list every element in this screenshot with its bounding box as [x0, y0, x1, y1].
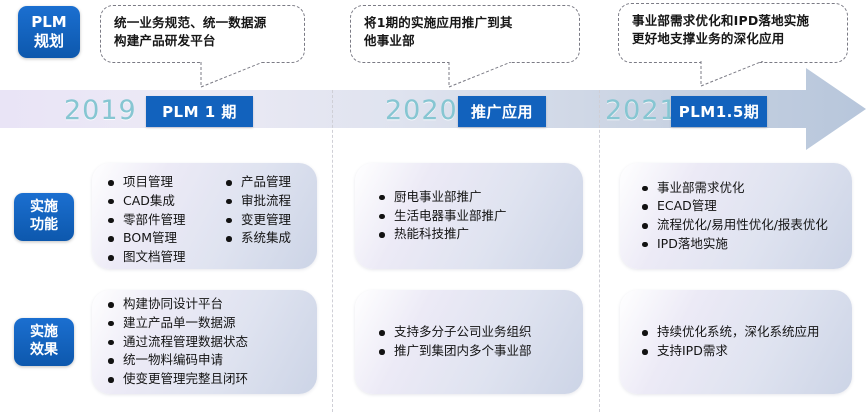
list-item: 生活电器事业部推广: [377, 207, 507, 226]
list-item: BOM管理: [106, 229, 214, 248]
row-label-implementation-functions: 实施 功能: [14, 193, 74, 241]
card-results-2019: 构建协同设计平台 建立产品单一数据源 通过流程管理数据状态 统一物料编码申请 使…: [92, 290, 317, 394]
list-item: 热能科技推广: [377, 225, 507, 244]
card-functions-2020: 厨电事业部推广 生活电器事业部推广 热能科技推广: [355, 163, 583, 269]
results-2019-list: 构建协同设计平台 建立产品单一数据源 通过流程管理数据状态 统一物料编码申请 使…: [106, 295, 248, 389]
list-item: 流程优化/易用性优化/报表优化: [640, 216, 828, 235]
list-item: 构建协同设计平台: [106, 295, 248, 314]
list-item: 持续优化系统，深化系统应用: [640, 323, 820, 342]
functions-2020-list: 厨电事业部推广 生活电器事业部推广 热能科技推广: [377, 188, 507, 244]
list-item: IPD落地实施: [640, 235, 828, 254]
row-label-effect-line2: 效果: [30, 342, 58, 360]
callout-2020: 将1期的实施应用推广到其 他事业部: [350, 5, 580, 63]
list-item: 可视化: [106, 267, 214, 269]
callout-2020-line1: 将1期的实施应用推广到其: [364, 14, 568, 32]
callout-2020-tail: [448, 61, 518, 89]
row-label-implementation-results: 实施 效果: [14, 318, 74, 366]
callout-2021-line1: 事业部需求优化和IPD落地实施: [632, 12, 836, 30]
list-item: 厨电事业部推广: [377, 188, 507, 207]
list-item: 通过流程管理数据状态: [106, 333, 248, 352]
list-item: 项目管理: [106, 173, 214, 192]
column-divider-1: [332, 90, 333, 412]
card-results-2020: 支持多分子公司业务组织 推广到集团内多个事业部: [355, 290, 583, 394]
list-item: ECAD管理: [640, 197, 828, 216]
list-item: 系统集成: [224, 229, 291, 248]
phase-chip-2021[interactable]: PLM1.5期: [671, 96, 767, 127]
card-functions-2019: 项目管理 CAD集成 零部件管理 BOM管理 图文档管理 可视化 产品管理 审批…: [92, 163, 317, 269]
list-item: 建立产品单一数据源: [106, 314, 248, 333]
list-item: 审批流程: [224, 192, 291, 211]
list-item: 支持IPD需求: [640, 342, 820, 361]
callout-2021: 事业部需求优化和IPD落地实施 更好地支撑业务的深化应用: [618, 3, 848, 63]
list-item: 推广到集团内多个事业部: [377, 342, 532, 361]
list-item: 使变更管理完整且闭环: [106, 370, 248, 389]
plm-planning-badge: PLM 规划: [18, 6, 80, 58]
card-results-2021: 持续优化系统，深化系统应用 支持IPD需求: [620, 290, 852, 394]
list-item: 变更管理: [224, 211, 291, 230]
callout-2019-line2: 构建产品研发平台: [114, 32, 293, 50]
functions-2021-list: 事业部需求优化 ECAD管理 流程优化/易用性优化/报表优化 IPD落地实施: [640, 179, 828, 254]
list-item: 事业部需求优化: [640, 179, 828, 198]
callout-2019-line1: 统一业务规范、统一数据源: [114, 14, 293, 32]
phase-chip-2020[interactable]: 推广应用: [458, 96, 546, 127]
callout-2019: 统一业务规范、统一数据源 构建产品研发平台: [100, 5, 305, 63]
year-label-2020: 2020: [385, 97, 458, 124]
list-item: 零部件管理: [106, 211, 214, 230]
functions-2019-column-1: 项目管理 CAD集成 零部件管理 BOM管理 图文档管理 可视化: [106, 173, 214, 269]
row-label-func-line1: 实施: [30, 199, 58, 217]
list-item: 支持多分子公司业务组织: [377, 323, 532, 342]
card-functions-2021: 事业部需求优化 ECAD管理 流程优化/易用性优化/报表优化 IPD落地实施: [620, 163, 852, 269]
phase-chip-2019[interactable]: PLM 1 期: [146, 96, 253, 127]
plm-badge-line1: PLM: [31, 13, 66, 32]
row-label-effect-line1: 实施: [30, 324, 58, 342]
row-label-func-line2: 功能: [30, 217, 58, 235]
callout-2019-tail: [200, 61, 270, 89]
plm-badge-line2: 规划: [34, 32, 64, 51]
callout-2020-line2: 他事业部: [364, 32, 568, 50]
results-2021-list: 持续优化系统，深化系统应用 支持IPD需求: [640, 323, 820, 361]
list-item: 统一物料编码申请: [106, 351, 248, 370]
list-item: 图文档管理: [106, 248, 214, 267]
column-divider-2: [599, 90, 600, 412]
callout-2021-line2: 更好地支撑业务的深化应用: [632, 30, 836, 48]
functions-2019-column-2: 产品管理 审批流程 变更管理 系统集成: [224, 173, 291, 269]
callout-2021-tail: [700, 60, 770, 88]
list-item: 产品管理: [224, 173, 291, 192]
year-label-2019: 2019: [64, 97, 137, 124]
list-item: CAD集成: [106, 192, 214, 211]
year-label-2021: 2021: [605, 97, 678, 124]
slide-root: PLM 规划 统一业务规范、统一数据源 构建产品研发平台 将1期的实施应用推广到…: [0, 0, 866, 412]
results-2020-list: 支持多分子公司业务组织 推广到集团内多个事业部: [377, 323, 532, 361]
